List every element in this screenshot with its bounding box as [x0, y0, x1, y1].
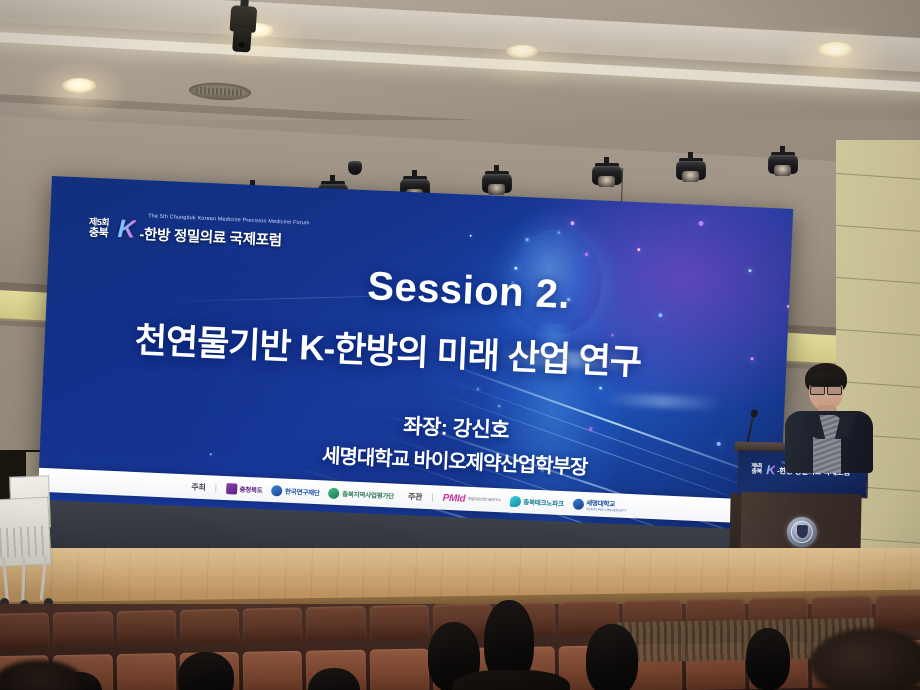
- ceiling-speaker-dome: [348, 158, 362, 174]
- seat: [116, 610, 176, 645]
- session-title: Session 2.: [366, 264, 571, 318]
- seat: [53, 611, 113, 646]
- sponsor-name: 한국연구재단: [285, 486, 320, 498]
- led-screen: 제5회 충북 K The 5th Chungbuk Korean Medicin…: [37, 176, 793, 539]
- audience-head: [586, 624, 638, 690]
- university-crest-icon: [787, 517, 818, 548]
- speaker-fringe: [806, 372, 846, 387]
- sponsor-name: 충청북도: [239, 484, 263, 495]
- folded-table: [0, 498, 64, 606]
- sponsor-logo: 충북지역사업평가단: [328, 487, 394, 501]
- audience-head: [746, 628, 790, 690]
- seat: [0, 613, 50, 648]
- sponsor-name: 충북지역사업평가단: [342, 488, 394, 500]
- audience-shoulders: [452, 670, 570, 690]
- organizer-logo: PMId 정밀의료산업기술연구소: [442, 492, 501, 506]
- seat: [180, 609, 240, 644]
- floor-highlight: [0, 548, 920, 594]
- forum-logo-k-mark: K: [117, 215, 136, 245]
- table-slots: [0, 526, 46, 558]
- ceiling-vent: [188, 80, 253, 102]
- host-label: 주최: [191, 481, 206, 493]
- organizer-separator: |: [431, 492, 434, 502]
- stage-spotlight: [482, 171, 512, 197]
- podium-logo-k-mark: K: [766, 462, 776, 477]
- organizer-sub: SEMYUNG UNIVERSITY: [586, 507, 627, 513]
- seat: [116, 653, 176, 690]
- chungcheongbuk-do-icon: [226, 483, 237, 494]
- stage-spotlight: [676, 158, 706, 184]
- downlight-right: [818, 42, 853, 57]
- host-separator: |: [214, 483, 217, 493]
- downlight-left: [62, 78, 96, 93]
- seat: [369, 649, 429, 690]
- stage-spotlight: [592, 163, 622, 189]
- speaker-person: [783, 363, 875, 473]
- organizer-logo: 충북테크노파크: [510, 495, 564, 508]
- organizer-logo: 세명대학교 SEMYUNG UNIVERSITY: [572, 496, 627, 512]
- seat: [306, 606, 366, 641]
- forum-logo-edition: 제5회 충북: [77, 216, 120, 240]
- seat: [243, 651, 303, 690]
- seat: [875, 594, 920, 629]
- sponsor-logo: 한국연구재단: [271, 485, 320, 498]
- organizer-label: 주관: [408, 491, 423, 503]
- nrf-icon: [271, 485, 282, 496]
- organizer-name: PMId: [442, 492, 465, 504]
- speaker-glasses: [810, 386, 842, 393]
- organizer-sub: 정밀의료산업기술연구소: [468, 496, 501, 502]
- regional-eval-icon: [328, 487, 339, 498]
- podium-logo-edition: 제5회 충북: [746, 464, 767, 475]
- stage-spotlight: [768, 152, 798, 178]
- seat: [243, 607, 303, 642]
- organizer-name: 세명대학교 SEMYUNG UNIVERSITY: [586, 497, 627, 513]
- ceiling-projector: [228, 0, 258, 57]
- forum-logo-main: -한방 정밀의료 국제포럼: [139, 223, 282, 250]
- semyung-university-icon: [572, 498, 583, 509]
- organizer-name: 충북테크노파크: [523, 496, 564, 508]
- chungbuk-technopark-icon: [510, 495, 521, 506]
- seat: [369, 605, 429, 640]
- downlight-center: [506, 45, 538, 58]
- sponsor-logo: 충청북도: [226, 483, 263, 496]
- audience-silhouette-right: [810, 628, 920, 690]
- conference-photo: 제5회 충북 K The 5th Chungbuk Korean Medicin…: [0, 0, 920, 690]
